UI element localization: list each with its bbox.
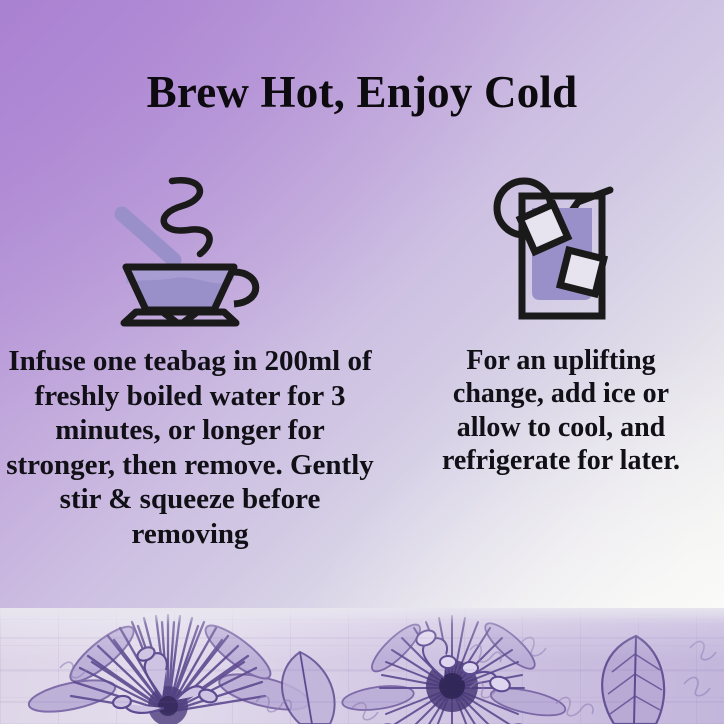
teacup-icon-wrapper — [100, 168, 280, 328]
botanical-band — [0, 608, 724, 724]
column-hot: Infuse one teabag in 200ml of freshly bo… — [0, 168, 380, 551]
ice-cube-icon — [560, 250, 604, 294]
column-cold: For an uplifting change, add ice or allo… — [380, 168, 724, 477]
passionflower-illustration — [0, 608, 724, 724]
instruction-columns: Infuse one teabag in 200ml of freshly bo… — [0, 168, 724, 551]
teacup-with-steam-icon — [100, 168, 280, 328]
cup-handle — [234, 272, 256, 304]
saucer-icon — [124, 312, 236, 323]
caption-hot: Infuse one teabag in 200ml of freshly bo… — [0, 344, 380, 551]
poster: Brew Hot, Enjoy Cold — [0, 0, 724, 724]
caption-cold: For an uplifting change, add ice or allo… — [431, 344, 691, 477]
leaf-icon — [602, 636, 664, 724]
glass-icon-wrapper — [486, 168, 636, 328]
steam-swirl-icon — [164, 180, 210, 254]
leaf-icon — [282, 652, 335, 724]
iced-drink-glass-icon — [486, 168, 636, 328]
page-title: Brew Hot, Enjoy Cold — [0, 66, 724, 118]
